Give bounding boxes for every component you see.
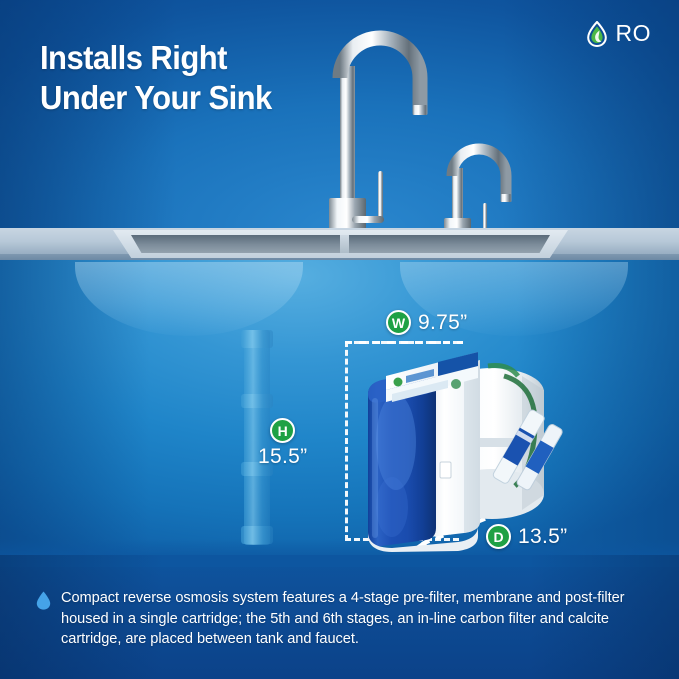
width-badge-icon: W [386, 310, 411, 335]
sink-divider [340, 235, 349, 253]
page-title: Installs Right Under Your Sink [40, 38, 272, 119]
dimension-badge-depth: D 13.5” [486, 524, 567, 549]
depth-badge-icon: D [486, 524, 511, 549]
brand-logo: RO [586, 20, 652, 47]
water-drop-leaf-icon [586, 21, 608, 47]
water-drop-icon [36, 591, 51, 610]
brand-name: RO [616, 20, 652, 47]
dimension-badge-height: H 15.5” [258, 418, 307, 469]
height-value: 15.5” [258, 445, 307, 469]
caption-block: Compact reverse osmosis system features … [36, 588, 650, 650]
reverse-osmosis-unit-icon [352, 332, 564, 552]
headline-line-2: Under Your Sink [40, 78, 272, 118]
double-basin-sink-icon [113, 230, 568, 258]
depth-value: 13.5” [518, 525, 567, 549]
headline-line-1: Installs Right [40, 39, 227, 76]
dimension-badge-width: W 9.75” [386, 310, 467, 335]
width-value: 9.75” [418, 311, 467, 335]
caption-text: Compact reverse osmosis system features … [61, 588, 650, 650]
ro-faucet-icon [438, 130, 558, 240]
height-badge-icon: H [270, 418, 295, 443]
product-infographic: Installs Right Under Your Sink RO [0, 0, 679, 679]
